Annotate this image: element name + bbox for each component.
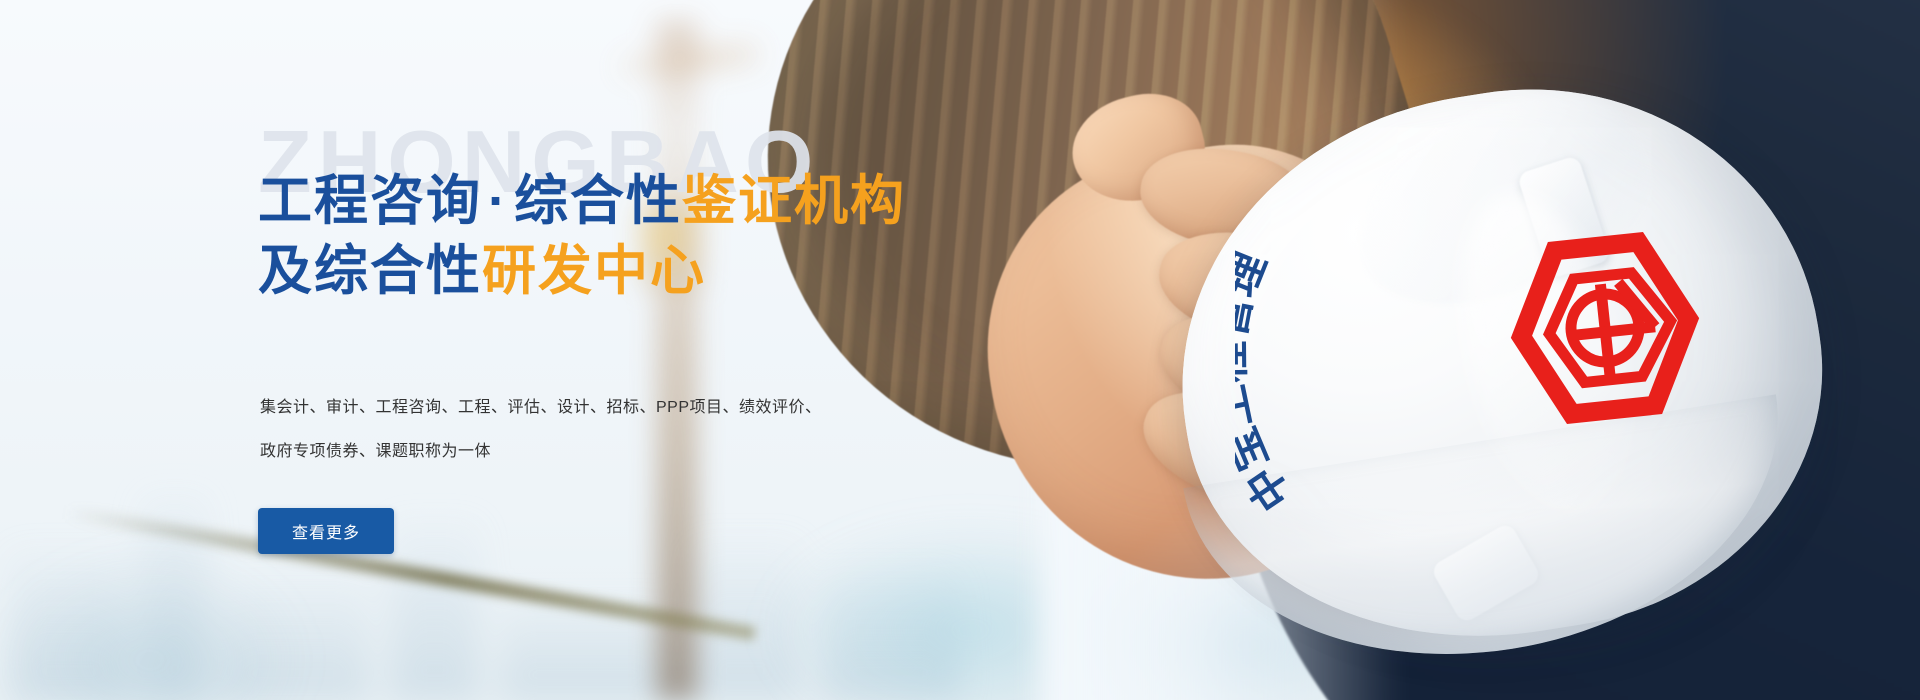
hero-content: ZHONGBAO 工程咨询·综合性鉴证机构 及综合性研发中心 集会计、审计、工程… (258, 0, 1018, 700)
headline: 工程咨询·综合性鉴证机构 及综合性研发中心 (258, 166, 1038, 306)
description-line-2: 政府专项债券、课题职称为一体 (260, 430, 860, 474)
description: 集会计、审计、工程咨询、工程、评估、设计、招标、PPP项目、绩效评价、 政府专项… (260, 386, 860, 474)
headline-separator-dot: · (482, 171, 514, 231)
headline-line-2: 及综合性研发中心 (258, 236, 1038, 306)
headline-line1-orange: 鉴证机构 (682, 171, 906, 231)
view-more-button[interactable]: 查看更多 (258, 508, 394, 554)
headline-line1-blue-b: 综合性 (514, 171, 682, 231)
background-haze-left (0, 560, 300, 700)
hero-banner: 中宝工程管理 ZHONGBAO 工程咨询·综合性鉴证机构 及综合性研发中心 (0, 0, 1920, 700)
headline-line1-blue-a: 工程咨询 (258, 171, 482, 231)
zhongbao-hexagon-logo-icon (1495, 218, 1715, 438)
headline-line2-blue: 及综合性 (258, 241, 482, 301)
description-line-1: 集会计、审计、工程咨询、工程、评估、设计、招标、PPP项目、绩效评价、 (260, 386, 860, 430)
headline-line2-orange: 研发中心 (482, 241, 706, 301)
headline-line-1: 工程咨询·综合性鉴证机构 (258, 166, 1038, 236)
helmet-brand-chars: 中宝工程管理 (1235, 246, 1300, 519)
